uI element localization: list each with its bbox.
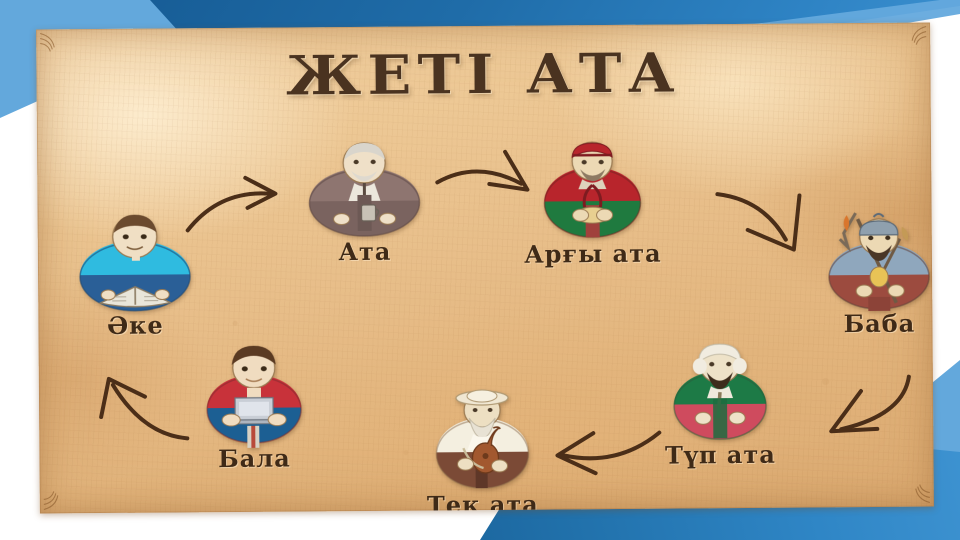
bearded-man-green-coat-icon (655, 336, 786, 447)
corner-flourish-bottom-right-icon (898, 470, 932, 504)
figure-node-ake[interactable]: Әке (60, 206, 211, 340)
figure-node-argy-ata[interactable]: Арғы ата (517, 135, 668, 269)
figure-node-ata[interactable]: Ата (289, 132, 440, 266)
corner-flourish-bottom-left-icon (42, 477, 76, 511)
old-man-with-cup-icon (299, 132, 430, 243)
man-in-red-robe-icon (527, 135, 658, 246)
man-reading-book-icon (70, 206, 201, 317)
parchment-sheet: ЖЕТІ АТА (36, 22, 934, 513)
poster-canvas: ЖЕТІ АТА (0, 0, 960, 540)
child-with-laptop-icon (189, 339, 320, 450)
elder-with-dombra-icon (417, 386, 548, 497)
figure-node-tup-ata[interactable]: Түп ата (645, 336, 796, 470)
warrior-with-spear-icon (814, 204, 934, 315)
figure-node-baba[interactable]: Баба (804, 204, 934, 338)
poster-title: ЖЕТІ АТА (36, 38, 934, 109)
figure-node-tek-ata[interactable]: Тек ата (407, 385, 558, 513)
figure-node-bala[interactable]: Бала (179, 339, 330, 473)
